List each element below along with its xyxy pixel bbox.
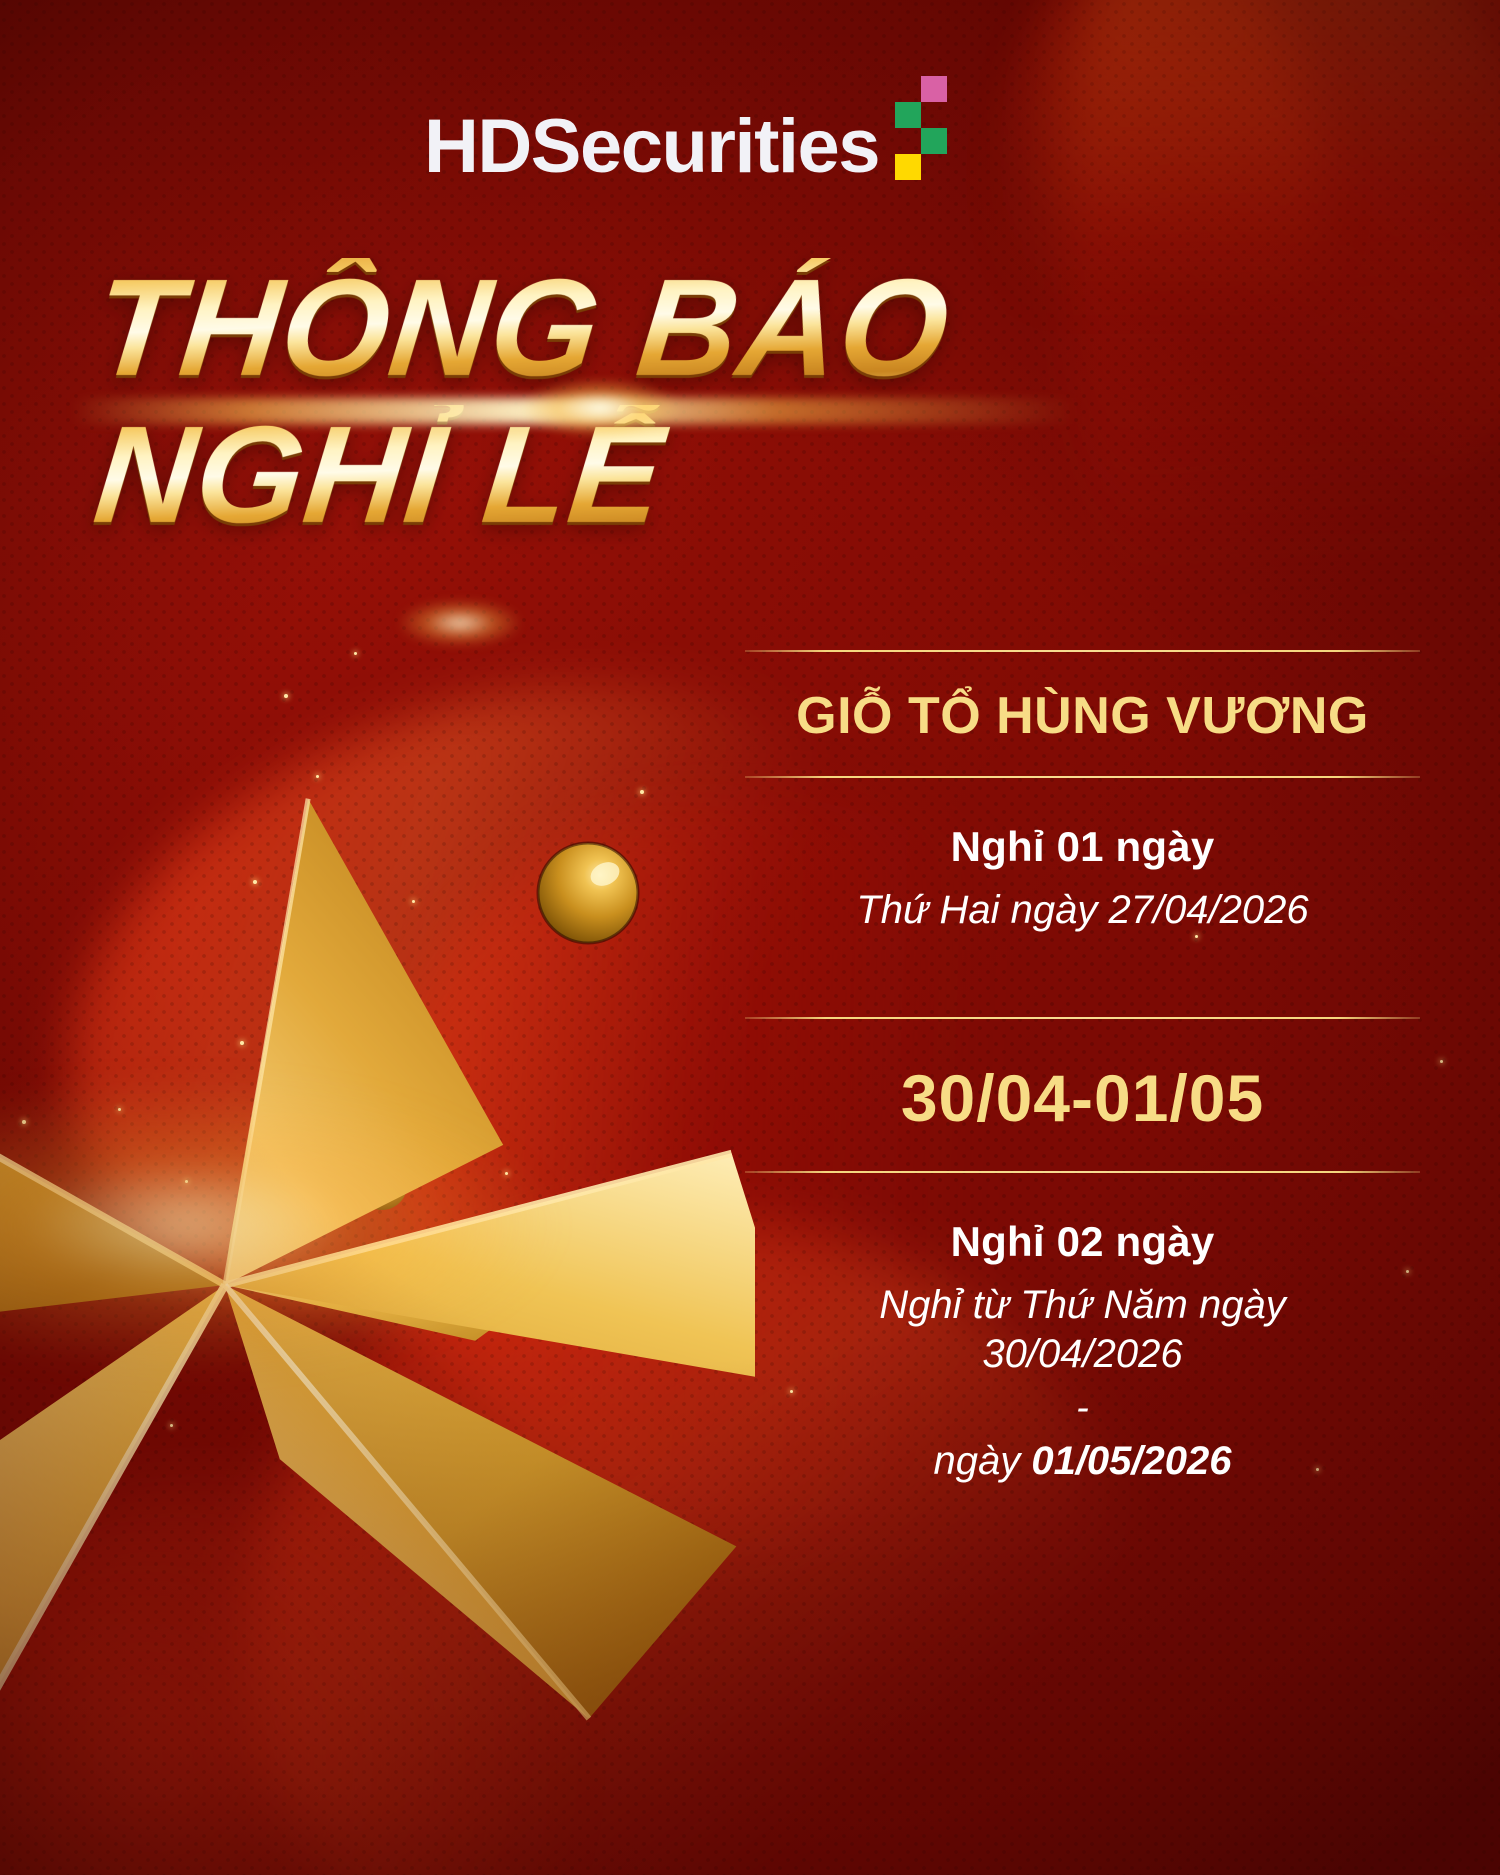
block2-separator: - <box>745 1380 1420 1437</box>
title-line-2: NGHỈ LỄ <box>89 405 1104 546</box>
gold-sphere-small-icon <box>355 1158 409 1212</box>
ribbon-bottom-left <box>0 1480 600 1875</box>
holiday-info-panel: GIỖ TỔ HÙNG VƯƠNG Nghỉ 01 ngày Thứ Hai n… <box>745 650 1420 1486</box>
block2-date-line-2: 30/04/2026 <box>745 1330 1420 1380</box>
gold-star <box>0 695 755 1755</box>
page-title: THÔNG BÁO NGHỈ LỄ <box>96 258 1096 546</box>
block2-date-line-1: Nghỉ từ Thứ Năm ngày <box>745 1281 1420 1331</box>
block1-lead: Nghỉ 01 ngày <box>745 822 1420 872</box>
poster-canvas: HDSecurities THÔNG BÁO NGHỈ LỄ GIỖ TỔ HÙ… <box>0 0 1500 1875</box>
logo-square-green-1 <box>895 102 921 128</box>
occasion-title: GIỖ TỔ HÙNG VƯƠNG <box>745 652 1420 776</box>
block2-lead: Nghỉ 02 ngày <box>745 1217 1420 1267</box>
date-range-headline: 30/04-01/05 <box>745 1019 1420 1171</box>
logo-square-yellow <box>895 154 921 180</box>
title-line-1: THÔNG BÁO <box>89 258 1104 399</box>
logo-square-pink <box>921 76 947 102</box>
holiday-block-1: Nghỉ 01 ngày Thứ Hai ngày 27/04/2026 <box>745 778 1420 935</box>
block2-date-bold: 01/05/2026 <box>1031 1439 1231 1483</box>
title-flare-burst-2 <box>400 600 520 646</box>
gold-sphere-icon <box>535 840 641 946</box>
block1-date: Thứ Hai ngày 27/04/2026 <box>745 886 1420 936</box>
logo-wordmark: HDSecurities <box>424 112 879 182</box>
block2-date-line-3: ngày 01/05/2026 <box>745 1437 1420 1487</box>
logo-mark-icon <box>895 76 947 170</box>
logo-square-green-2 <box>921 128 947 154</box>
hdsecurities-logo[interactable]: HDSecurities <box>424 112 947 182</box>
panel-spacer <box>745 935 1420 1017</box>
holiday-block-2: Nghỉ 02 ngày Nghỉ từ Thứ Năm ngày 30/04/… <box>745 1173 1420 1486</box>
block2-date-prefix: ngày <box>933 1439 1031 1483</box>
